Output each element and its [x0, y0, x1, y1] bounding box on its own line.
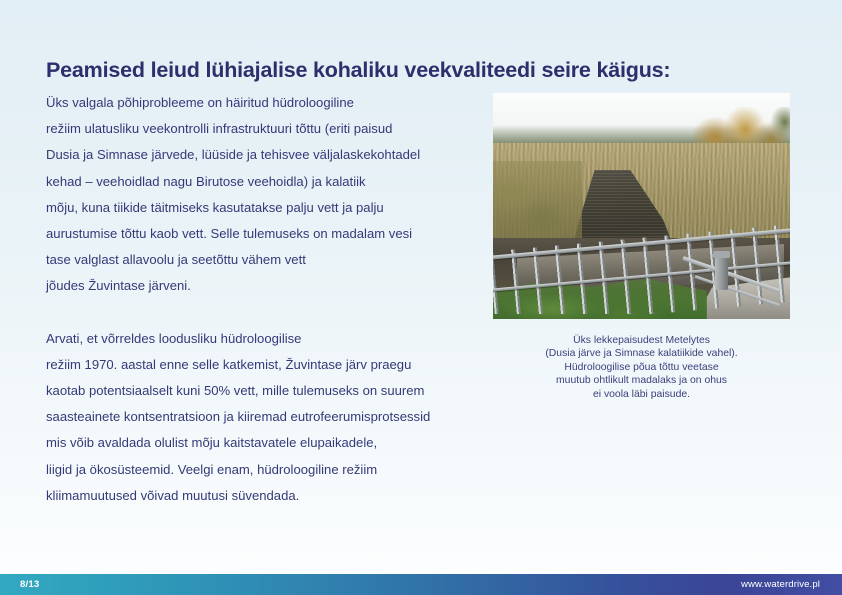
text-line: Üks valgala põhiprobleeme on häiritud hü… [46, 90, 476, 116]
text-line: Arvati, et võrreldes loodusliku hüdroloo… [46, 326, 476, 352]
text-line: režiim ulatusliku veekontrolli infrastru… [46, 116, 476, 142]
text-line: tase valglast allavoolu ja seetõttu vähe… [46, 247, 476, 273]
text-line: Dusia ja Simnase järvede, lüüside ja teh… [46, 142, 476, 168]
text-line: kaotab potentsiaalselt kuni 50% vett, mi… [46, 378, 476, 404]
paragraph-2: Arvati, et võrreldes loodusliku hüdroloo… [46, 326, 476, 509]
caption-line: muutub ohtlikult madalaks ja on ohus [493, 374, 790, 387]
text-line: kehad – veehoidlad nagu Birutose veehoid… [46, 169, 476, 195]
figure-caption: Üks lekkepaisudest Metelytes (Dusia järv… [493, 334, 790, 401]
photo-water-gauge-post [715, 256, 728, 290]
slide: Peamised leiud lühiajalise kohaliku veek… [0, 0, 842, 595]
footer-url[interactable]: www.waterdrive.pl [741, 579, 820, 590]
caption-line: (Dusia järve ja Simnase kalatiikide vahe… [493, 347, 790, 360]
photo-canvas [493, 93, 790, 319]
text-line: režiim 1970. aastal enne selle katkemist… [46, 352, 476, 378]
caption-line: Üks lekkepaisudest Metelytes [493, 334, 790, 347]
caption-line: Hüdroloogilise põua tõttu veetase [493, 361, 790, 374]
text-line: saasteainete kontsentratsioon ja kiirema… [46, 404, 476, 430]
text-line: mis võib avaldada olulist mõju kaitstava… [46, 430, 476, 456]
slide-footer: 8/13 www.waterdrive.pl [0, 574, 842, 595]
photo-metal-railing [493, 211, 790, 315]
paragraph-1: Üks valgala põhiprobleeme on häiritud hü… [46, 90, 476, 300]
body-text-column: Üks valgala põhiprobleeme on häiritud hü… [46, 90, 476, 509]
page-title: Peamised leiud lühiajalise kohaliku veek… [46, 58, 786, 84]
caption-line: ei voola läbi paisude. [493, 388, 790, 401]
page-number: 8/13 [20, 579, 39, 590]
text-line: mõju, kuna tiikide täitmiseks kasutataks… [46, 195, 476, 221]
text-line: liigid ja ökosüsteemid. Veelgi enam, hüd… [46, 457, 476, 483]
text-line: aurustumise tõttu kaob vett. Selle tulem… [46, 221, 476, 247]
figure-photo [493, 93, 790, 319]
text-line: jõudes Žuvintase järveni. [46, 273, 476, 299]
text-line: kliimamuutused võivad muutusi süvendada. [46, 483, 476, 509]
railing-posts [493, 223, 790, 314]
